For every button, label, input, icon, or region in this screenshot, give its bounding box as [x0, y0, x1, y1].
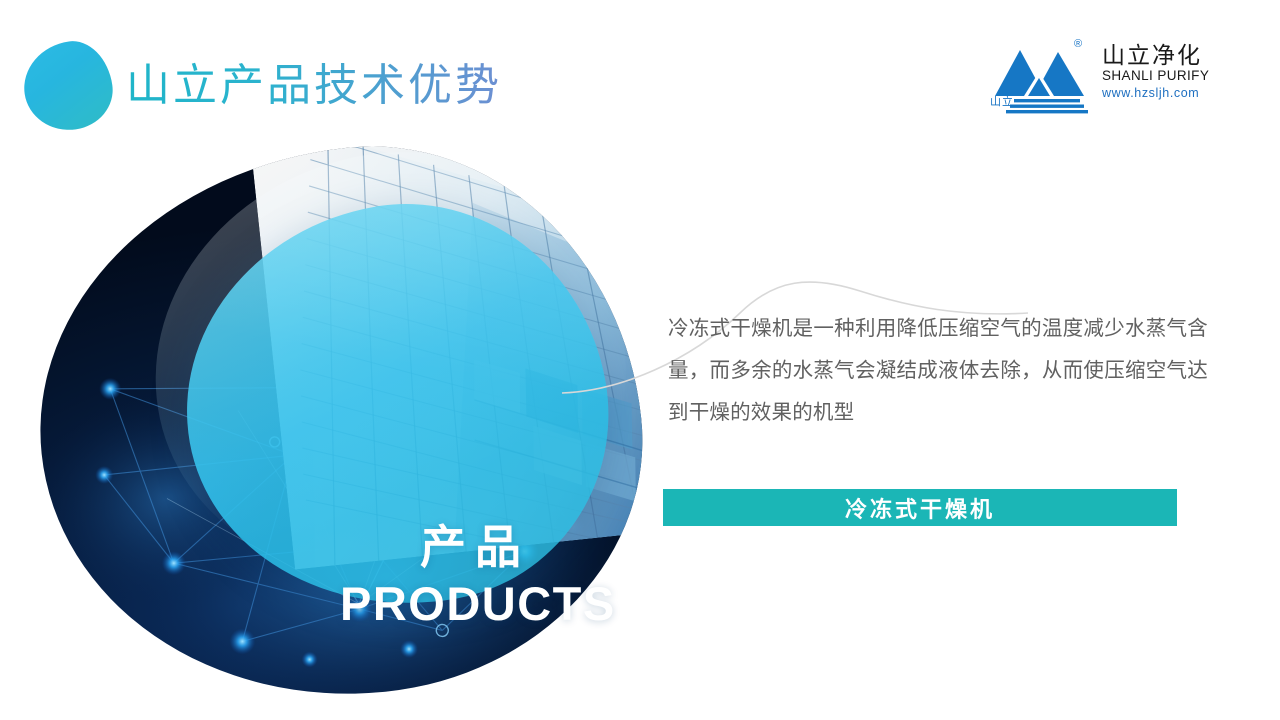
header-accent-blob-icon	[18, 36, 117, 135]
logo-company-en: SHANLI PURIFY	[1102, 68, 1222, 85]
registered-mark: ®	[1074, 38, 1082, 50]
logo-company-cn: 山立净化	[1102, 42, 1222, 68]
product-name-banner[interactable]: 冷冻式干燥机	[663, 489, 1177, 526]
product-name-banner-label: 冷冻式干燥机	[845, 492, 995, 524]
dark-network-blob	[13, 120, 667, 720]
product-graphic: 产品 PRODUCTS	[40, 150, 640, 710]
product-description: 冷冻式干燥机是一种利用降低压缩空气的温度减少水蒸气含量，而多余的水蒸气会凝结成液…	[668, 308, 1208, 434]
logo-text-block: 山立净化 SHANLI PURIFY www.hzsljh.com	[1102, 42, 1222, 102]
page-title: 山立产品技术优势	[126, 58, 502, 113]
brand-logo: ® 山立 山立净化 SHANLI PURIFY www.hzsljh.com	[990, 38, 1218, 122]
logo-mark-label: 山立	[990, 93, 1014, 109]
logo-website: www.hzsljh.com	[1102, 85, 1222, 101]
slide-canvas: 山立产品技术优势 ® 山立 山立净化 SHANLI PURIFY www.hzs…	[0, 0, 1280, 720]
